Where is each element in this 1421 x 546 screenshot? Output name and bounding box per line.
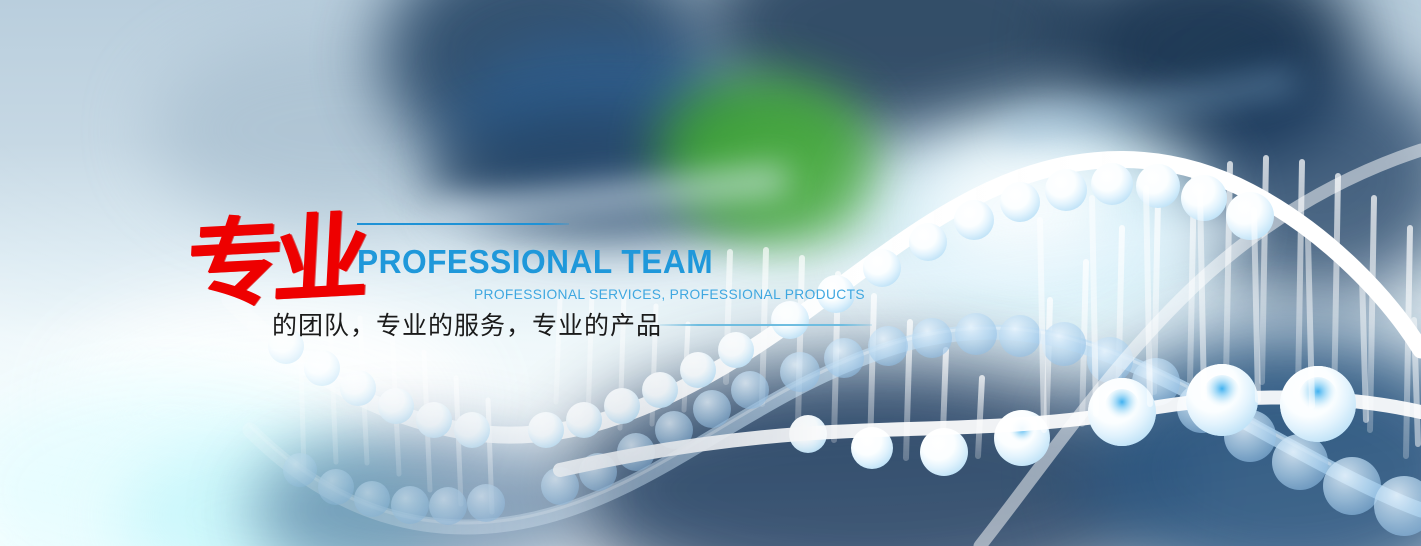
subtitle-chinese: 的团队，专业的服务，专业的产品 [272, 306, 662, 342]
subtitle-english: PROFESSIONAL SERVICES, PROFESSIONAL PROD… [474, 286, 865, 302]
banner-text-block: 专业 PROFESSIONAL TEAM PROFESSIONAL SERVIC… [0, 0, 1421, 546]
hero-banner: 专业 PROFESSIONAL TEAM PROFESSIONAL SERVIC… [0, 0, 1421, 546]
page-title: PROFESSIONAL TEAM [357, 243, 713, 281]
bottom-divider [660, 324, 872, 326]
top-divider [357, 223, 569, 225]
